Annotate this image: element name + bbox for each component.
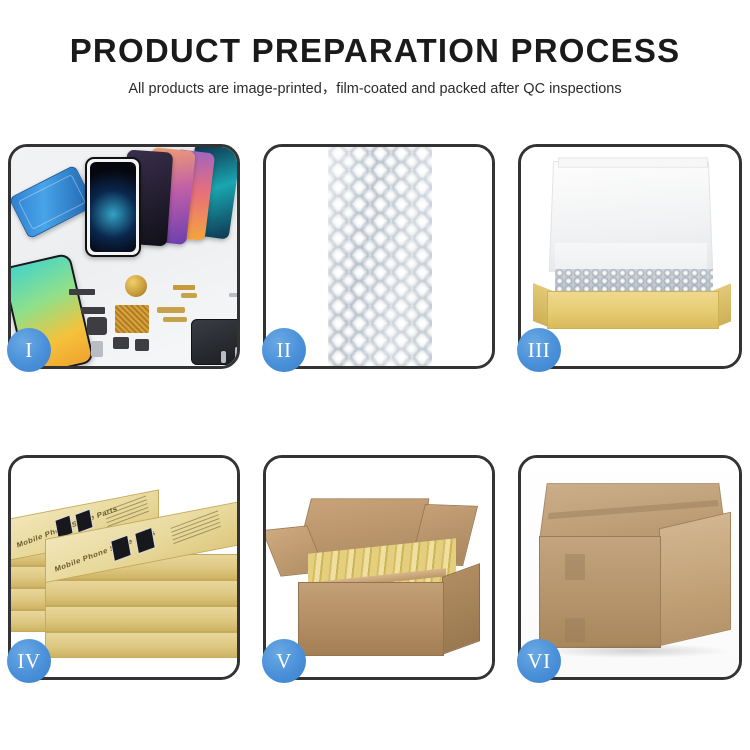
part-screw-1 (229, 293, 237, 297)
sealed-carton-handle-tab-top (565, 554, 585, 580)
step-badge-v: V (262, 639, 306, 683)
step-panel-iii: III (518, 144, 742, 369)
retail-box-r-4 (45, 606, 237, 632)
sealed-carton-handle-tab-bottom (565, 618, 585, 642)
step-badge-i: I (7, 328, 51, 372)
carton-right-side (442, 563, 480, 655)
part-battery-connector (69, 289, 95, 295)
part-gold-flex-1 (173, 285, 195, 290)
retail-box-r-3 (45, 580, 237, 606)
part-screwdriver (235, 347, 237, 361)
step-panel-vi: VI (518, 455, 742, 680)
page-subtitle: All products are image-printed，film-coat… (0, 78, 750, 100)
process-steps-grid: I II III (8, 144, 742, 680)
part-vibrator (113, 337, 129, 349)
part-tweezers (221, 351, 226, 363)
step-panel-v: V (263, 455, 495, 680)
sealed-carton-right-side (659, 512, 731, 647)
step-badge-ii: II (262, 328, 306, 372)
part-ribbon-cable (157, 307, 185, 313)
step-image-stacked-retail-boxes: Mobile Phone Spare Parts Mobile Phone Sp… (11, 458, 237, 677)
inner-box-front-panel (547, 291, 719, 329)
carton-front-panel (298, 582, 444, 656)
step-badge-vi: VI (517, 639, 561, 683)
part-camera-module (81, 307, 105, 314)
retail-box-r-5 (45, 632, 237, 658)
step-badge-iii: III (517, 328, 561, 372)
step-panel-iv: Mobile Phone Spare Parts Mobile Phone Sp… (8, 455, 240, 680)
step-image-carton-filling (266, 458, 492, 677)
part-speaker-coil (125, 275, 147, 297)
bubble-wrap-pack (328, 147, 432, 366)
part-sim-tray (91, 341, 103, 357)
phone-screen-blue-icon (11, 165, 95, 240)
part-chipset-grid (115, 305, 149, 333)
spare-parts-cluster (69, 267, 237, 366)
step-badge-iv: IV (7, 639, 51, 683)
step-panel-i: I (8, 144, 240, 369)
part-ribbon-cable-2 (163, 317, 187, 322)
sealed-carton-shadow (541, 644, 727, 658)
step-image-products-overview (11, 147, 237, 366)
part-back-cover (191, 319, 237, 365)
part-gold-flex-2 (181, 293, 197, 298)
step-panel-ii: II (263, 144, 495, 369)
step-image-bubble-wrap (266, 147, 492, 366)
part-earpiece (135, 339, 149, 351)
phone-screen-black-icon (85, 157, 141, 257)
sealed-carton-front-panel (539, 536, 661, 648)
part-sensor-block (87, 317, 107, 335)
page-title: PRODUCT PREPARATION PROCESS (0, 30, 750, 72)
page-header: PRODUCT PREPARATION PROCESS All products… (0, 0, 750, 100)
